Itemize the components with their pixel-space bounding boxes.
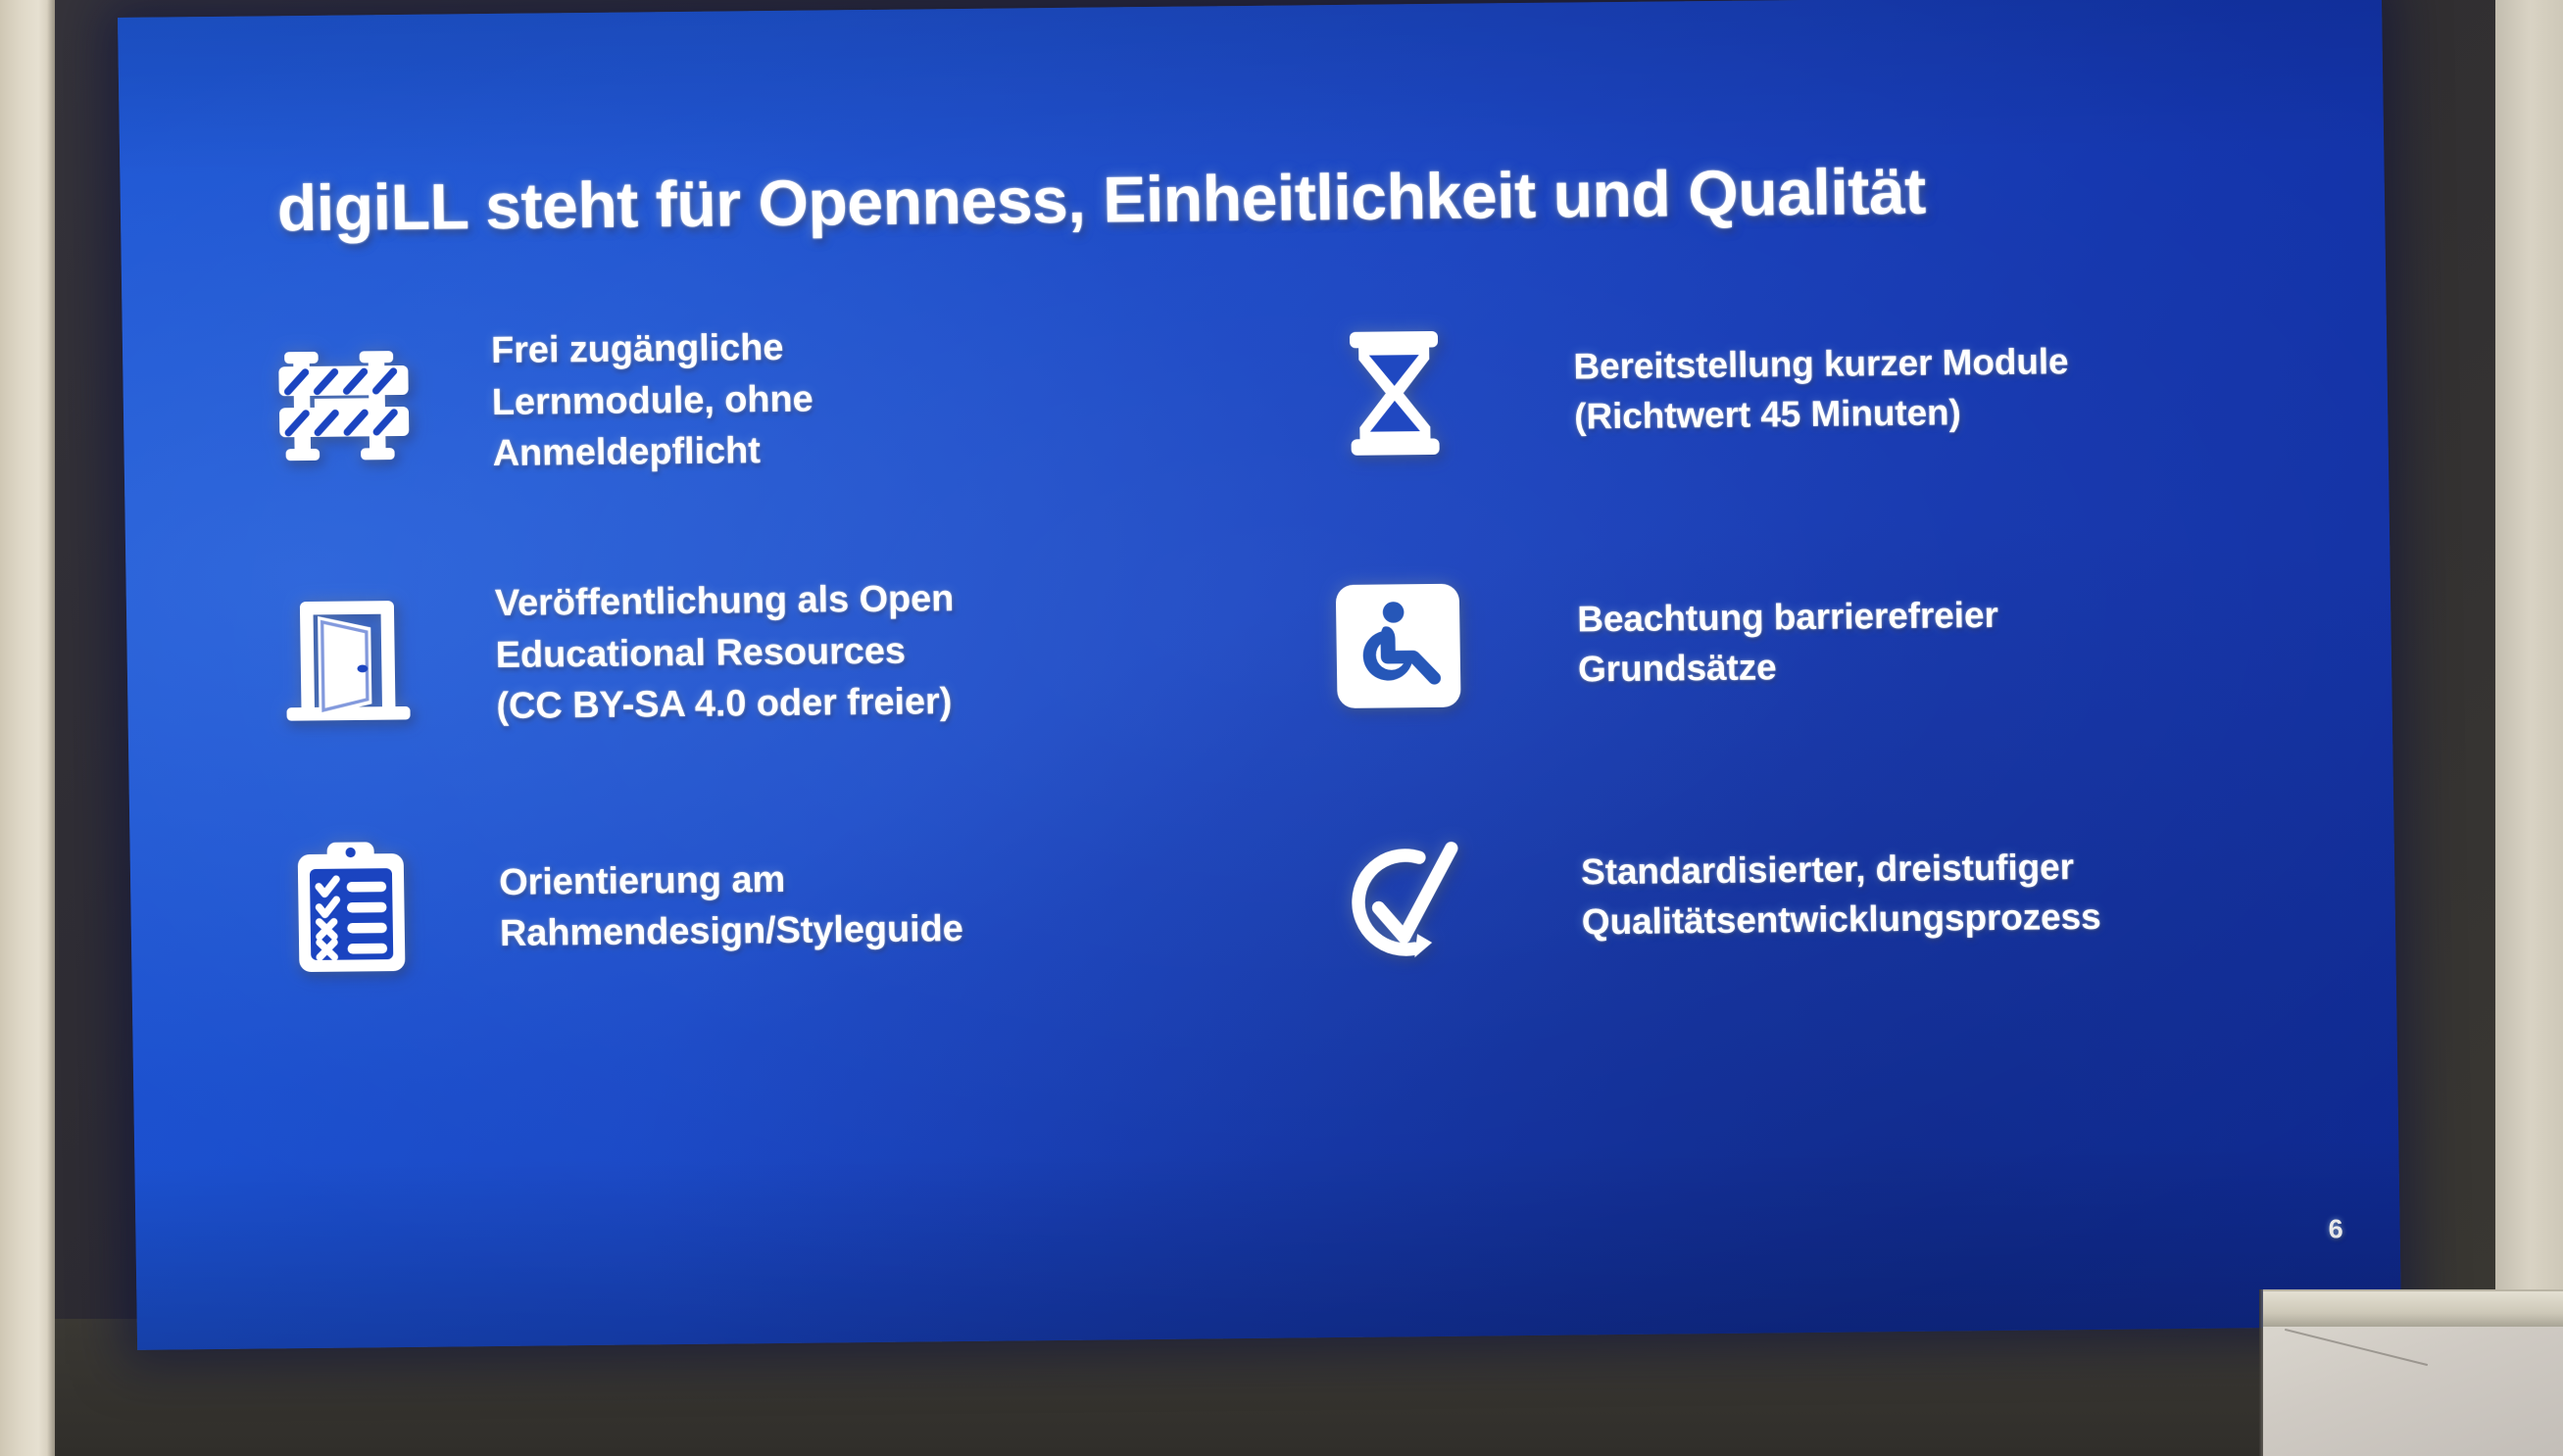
feature-item-styleguide: Orientierung am Rahmendesign/Styleguide bbox=[276, 774, 1229, 1037]
feature-line: Qualitätsentwicklungsprozess bbox=[1581, 890, 2278, 946]
barrier-icon bbox=[270, 330, 419, 479]
feature-column-right: Bereitstellung kurzer Module (Richtwert … bbox=[1319, 258, 2279, 1026]
feature-line: Rahmendesign/Styleguide bbox=[500, 900, 1228, 959]
page-title: digiLL steht für Openness, Einheitlichke… bbox=[276, 154, 2257, 242]
feature-line: Anmeldepflicht bbox=[492, 420, 1220, 479]
feature-column-left: Frei zugängliche Lernmodule, ohne Anmeld… bbox=[269, 268, 1228, 1037]
feature-line: Grundsätze bbox=[1578, 637, 2275, 694]
feature-item-label: Standardisierter, dreistufiger Qualitäts… bbox=[1581, 840, 2278, 947]
clipboard-checklist-icon bbox=[276, 836, 425, 985]
feature-item-free-access: Frei zugängliche Lernmodule, ohne Anmeld… bbox=[269, 268, 1221, 531]
flipchart-top-bar bbox=[2263, 1289, 2563, 1331]
feature-line: Standardisierter, dreistufiger bbox=[1581, 840, 2278, 897]
feature-item-accessibility: Beachtung barrierefreier Grundsätze bbox=[1323, 510, 2276, 773]
slide-canvas: digiLL steht für Openness, Einheitlichke… bbox=[118, 0, 2401, 1350]
feature-columns: Frei zugängliche Lernmodule, ohne Anmeld… bbox=[269, 258, 2279, 1037]
feature-line: Bereitstellung kurzer Module bbox=[1573, 334, 2270, 391]
hourglass-icon bbox=[1320, 319, 1469, 468]
feature-item-label: Beachtung barrierefreier Grundsätze bbox=[1577, 587, 2274, 695]
feature-item-oer-license: Veröffentlichung als Open Educational Re… bbox=[272, 521, 1225, 784]
wheelchair-accessibility-icon bbox=[1324, 572, 1473, 721]
feature-line: (CC BY-SA 4.0 oder freier) bbox=[496, 673, 1224, 732]
open-door-icon bbox=[273, 583, 422, 732]
feature-item-module-length: Bereitstellung kurzer Module (Richtwert … bbox=[1319, 258, 2272, 520]
flipchart-paper bbox=[2263, 1327, 2563, 1456]
slide-number: 6 bbox=[2328, 1214, 2342, 1244]
screenshot-root: digiLL steht für Openness, Einheitlichke… bbox=[0, 0, 2563, 1456]
refresh-check-icon bbox=[1327, 825, 1476, 974]
feature-line: (Richtwert 45 Minuten) bbox=[1574, 384, 2271, 441]
feature-line: Frei zugängliche bbox=[491, 318, 1219, 377]
feature-item-label: Veröffentlichung als Open Educational Re… bbox=[495, 571, 1224, 733]
feature-line: Educational Resources bbox=[495, 622, 1223, 681]
feature-line: Orientierung am bbox=[499, 849, 1227, 908]
feature-line: Beachtung barrierefreier bbox=[1577, 587, 2274, 644]
feature-item-label: Orientierung am Rahmendesign/Styleguide bbox=[499, 849, 1228, 960]
feature-item-label: Frei zugängliche Lernmodule, ohne Anmeld… bbox=[491, 318, 1220, 480]
feature-line: Veröffentlichung als Open bbox=[495, 571, 1223, 630]
projected-slide: digiLL steht für Openness, Einheitlichke… bbox=[118, 0, 2401, 1350]
feature-item-quality-process: Standardisierter, dreistufiger Qualitäts… bbox=[1327, 763, 2280, 1026]
flipchart-occluder bbox=[2249, 1274, 2563, 1456]
feature-line: Lernmodule, ohne bbox=[491, 369, 1219, 428]
feature-item-label: Bereitstellung kurzer Module (Richtwert … bbox=[1573, 334, 2270, 442]
